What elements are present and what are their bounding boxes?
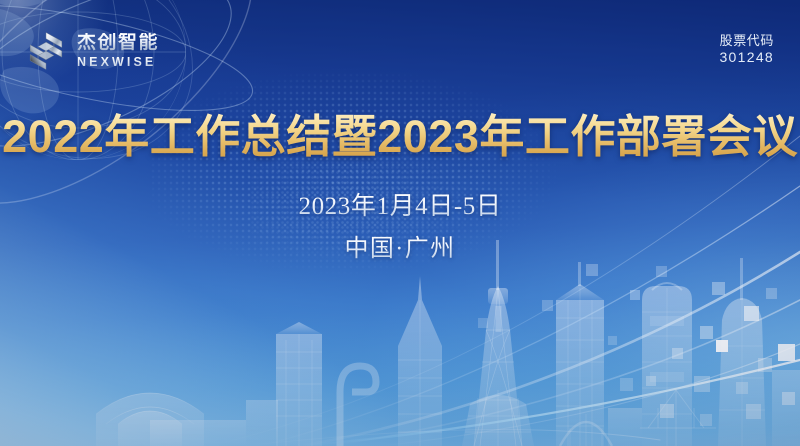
brand-wordmark: 杰创智能 NEXWISE (77, 33, 159, 69)
brand-name-en: NEXWISE (77, 56, 159, 69)
stock-code-label: 股票代码 (719, 33, 774, 49)
event-date: 2023年1月4日-5日 (0, 186, 800, 222)
event-location: 中国·广州 (0, 228, 800, 263)
stock-code-block: 股票代码 301248 (719, 33, 774, 66)
brand-logo: 杰创智能 NEXWISE (24, 29, 159, 73)
brand-name-cn: 杰创智能 (77, 33, 159, 52)
page-title: 2022年工作总结暨2023年工作部署会议 (0, 100, 800, 165)
stock-code-value: 301248 (719, 49, 774, 66)
nexwise-hexagon-s-logo-icon (24, 29, 68, 73)
conference-banner: 杰创智能 NEXWISE 股票代码 301248 2022年工作总结暨2023年… (0, 0, 800, 446)
